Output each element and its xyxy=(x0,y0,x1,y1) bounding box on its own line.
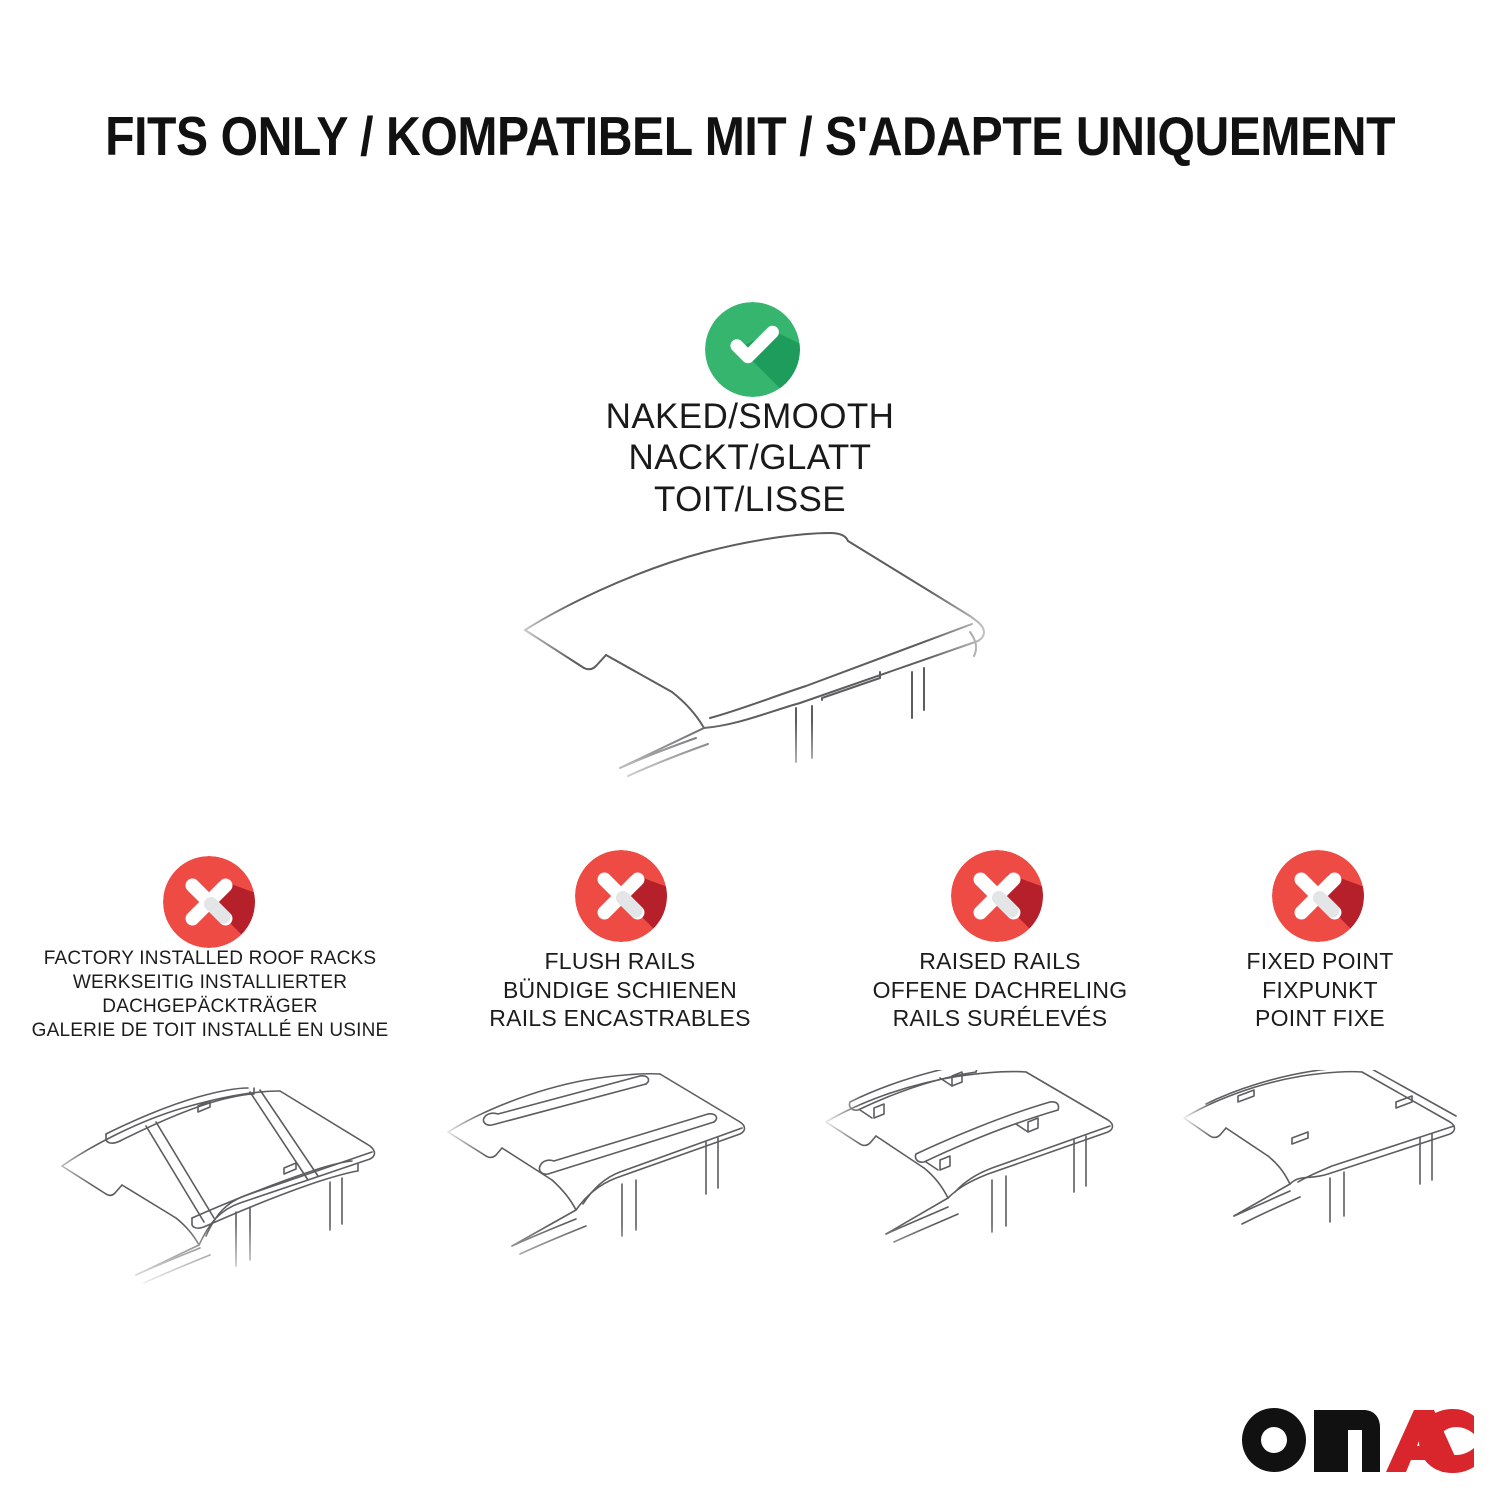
x-circle-icon xyxy=(575,850,667,942)
caption-line: TOIT/LISSE xyxy=(450,479,1050,520)
caption-line: GALERIE DE TOIT INSTALLÉ EN USINE xyxy=(0,1019,420,1043)
check-circle-icon xyxy=(705,302,800,397)
x-circle-icon xyxy=(163,856,255,948)
incompatible-caption-3: RAISED RAILS OFFENE DACHRELING RAILS SUR… xyxy=(820,947,1180,1033)
incompatible-caption-1: FACTORY INSTALLED ROOF RACKS WERKSEITIG … xyxy=(0,947,420,1044)
caption-line: FIXPUNKT xyxy=(1140,976,1500,1005)
caption-line: FLUSH RAILS xyxy=(440,947,800,976)
page-header: FITS ONLY / KOMPATIBEL MIT / S'ADAPTE UN… xyxy=(0,104,1500,168)
car-roof-flush-rails-illustration xyxy=(440,1070,820,1290)
caption-line: FIXED POINT xyxy=(1140,947,1500,976)
caption-line: RAILS SURÉLEVÉS xyxy=(820,1004,1180,1033)
caption-line: NAKED/SMOOTH xyxy=(450,396,1050,437)
caption-line: RAILS ENCASTRABLES xyxy=(440,1004,800,1033)
caption-line: OFFENE DACHRELING xyxy=(820,976,1180,1005)
x-circle-icon xyxy=(1272,850,1364,942)
incompatible-caption-4: FIXED POINT FIXPUNKT POINT FIXE xyxy=(1140,947,1500,1033)
car-roof-raised-rails-illustration xyxy=(820,1070,1200,1290)
caption-line: RAISED RAILS xyxy=(820,947,1180,976)
caption-line: BÜNDIGE SCHIENEN xyxy=(440,976,800,1005)
car-roof-naked-smooth-illustration xyxy=(500,520,1020,800)
omac-logo xyxy=(1238,1404,1474,1476)
caption-line: POINT FIXE xyxy=(1140,1004,1500,1033)
caption-line: DACHGEPÄCKTRÄGER xyxy=(0,995,420,1019)
car-roof-fixed-point-illustration xyxy=(1180,1070,1500,1290)
caption-line: NACKT/GLATT xyxy=(450,437,1050,478)
caption-line: FACTORY INSTALLED ROOF RACKS xyxy=(0,947,420,971)
page-title: FITS ONLY / KOMPATIBEL MIT / S'ADAPTE UN… xyxy=(105,104,1395,168)
car-roof-factory-roof-racks-illustration xyxy=(40,1070,440,1290)
compatible-caption: NAKED/SMOOTH NACKT/GLATT TOIT/LISSE xyxy=(450,396,1050,520)
x-circle-icon xyxy=(951,850,1043,942)
caption-line: WERKSEITIG INSTALLIERTER xyxy=(0,971,420,995)
incompatible-caption-2: FLUSH RAILS BÜNDIGE SCHIENEN RAILS ENCAS… xyxy=(440,947,800,1033)
